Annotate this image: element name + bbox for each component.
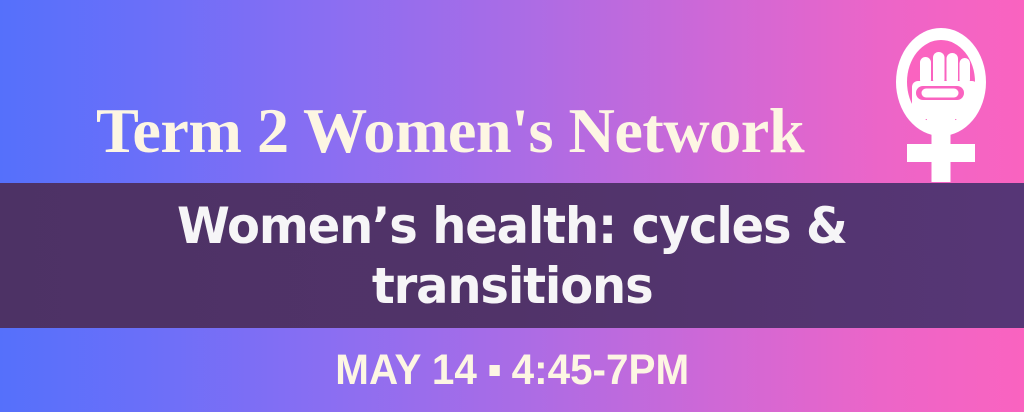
title-row: Term 2 Women's Network (0, 0, 1024, 183)
bullet-separator-icon (489, 365, 499, 376)
event-banner: Term 2 Women's Network (0, 0, 1024, 412)
subtitle-line-2: transitions (372, 256, 653, 316)
page-title: Term 2 Women's Network (0, 0, 909, 183)
feminist-fist-venus-icon (893, 26, 989, 184)
subtitle-line-1: Women’s health: cycles & (177, 196, 847, 256)
event-time: 4:45-7PM (511, 349, 688, 392)
event-datetime: MAY 14 4:45-7PM (335, 349, 689, 392)
subtitle-band: Women’s health: cycles & transitions (0, 183, 1024, 328)
date-row: MAY 14 4:45-7PM (0, 328, 1024, 412)
event-date: MAY 14 (335, 349, 477, 392)
